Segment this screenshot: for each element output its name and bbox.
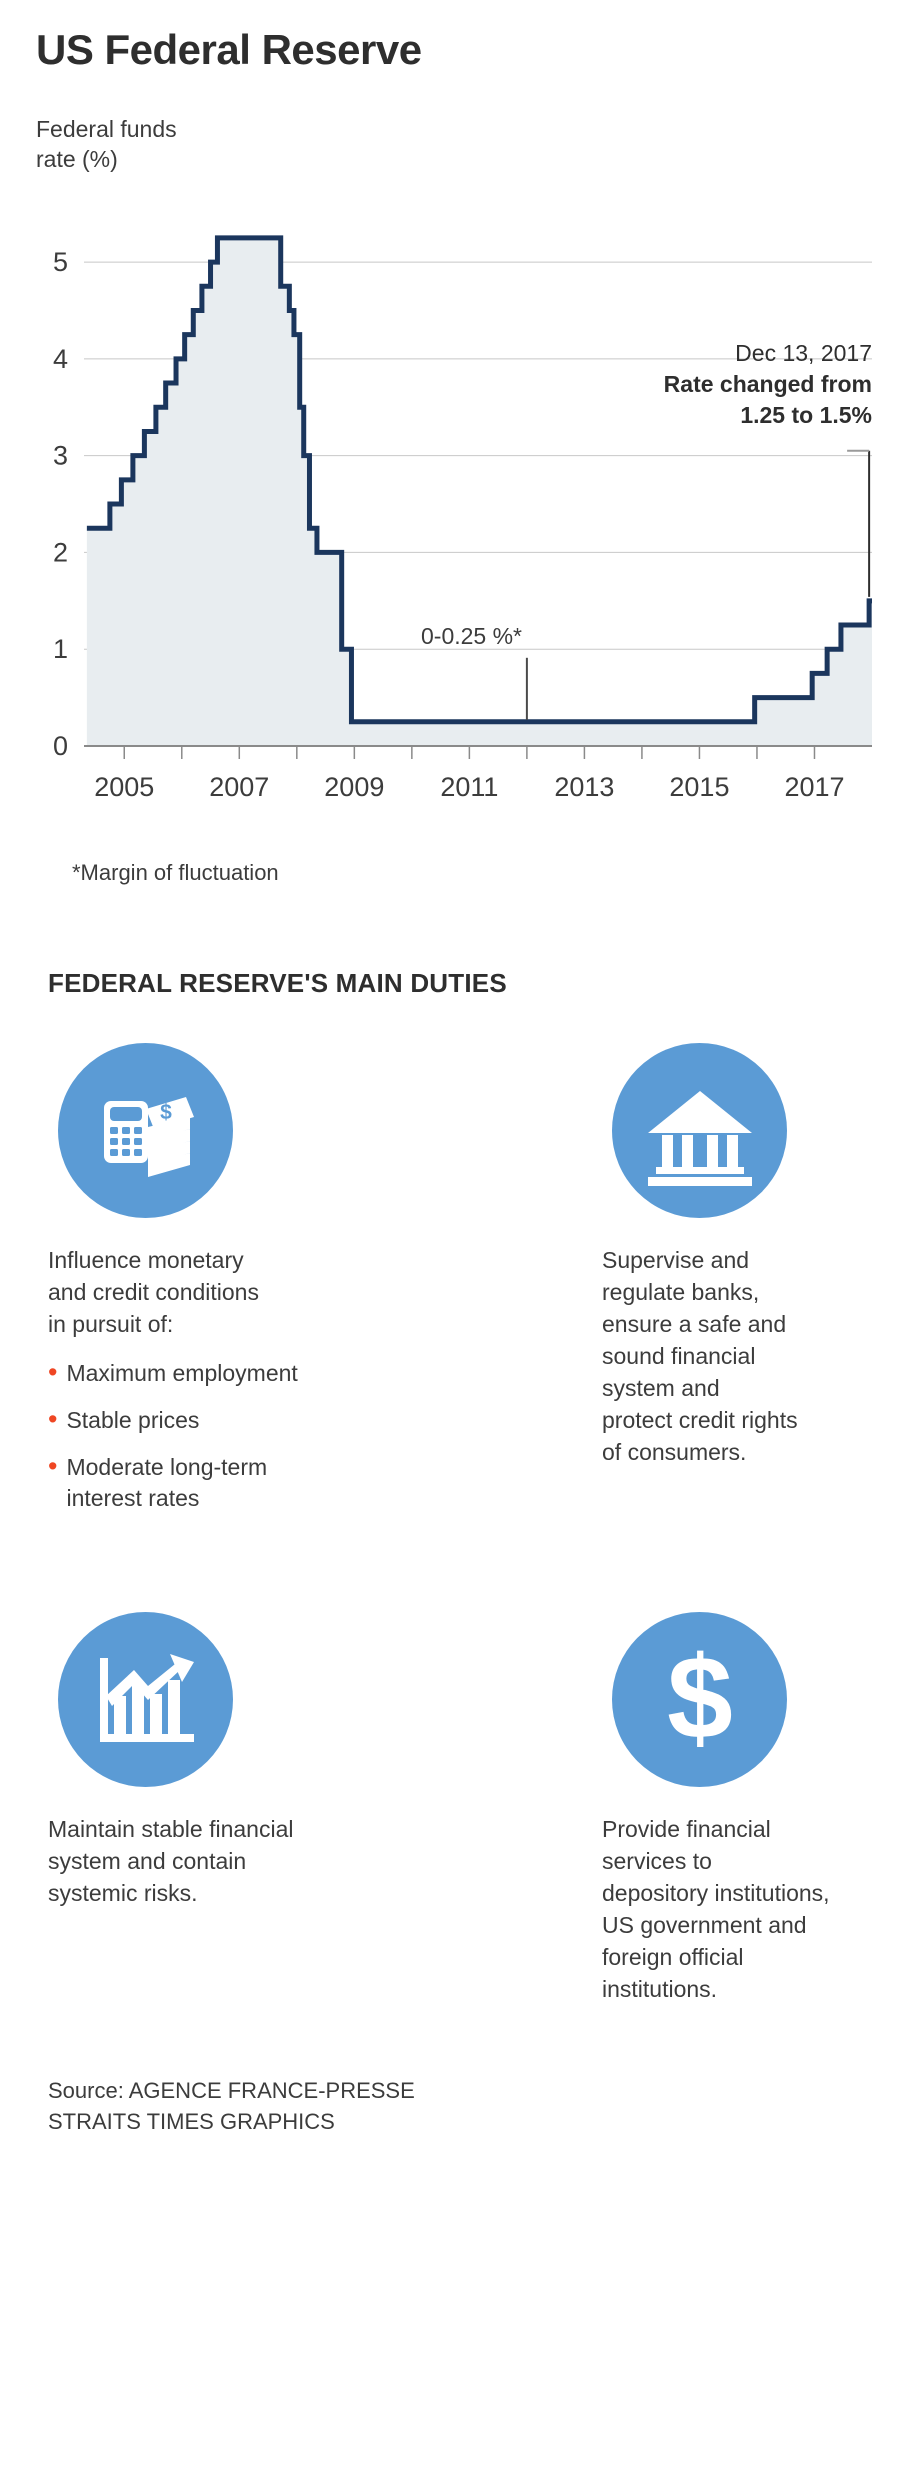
growth-chart-icon	[58, 1612, 233, 1787]
chart-area-fill	[87, 238, 872, 746]
y-tick-label: 2	[53, 537, 68, 567]
bullet-dot-icon: •	[48, 1452, 57, 1514]
duty-text: Provide financial services to depository…	[602, 1813, 858, 2005]
duty-text: Supervise and regulate banks, ensure a s…	[602, 1244, 858, 1468]
calculator-money-icon: $	[58, 1043, 233, 1218]
y-tick-label: 0	[53, 731, 68, 761]
y-tick-label: 3	[53, 441, 68, 471]
x-tick-label: 2011	[440, 772, 498, 802]
x-tick-label: 2013	[554, 772, 614, 802]
chart-plot-area: 0123452005200720092011201320152017 Dec 1…	[36, 186, 884, 846]
page-title: US Federal Reserve	[36, 0, 884, 74]
bullet-dot-icon: •	[48, 1405, 57, 1436]
duty-bullet-list: • Maximum employment • Stable prices • M…	[48, 1358, 492, 1514]
x-tick-label: 2009	[324, 772, 384, 802]
duty-text: Influence monetary and credit conditions…	[48, 1244, 492, 1340]
source-credit: Source: AGENCE FRANCE-PRESSE STRAITS TIM…	[48, 2075, 884, 2167]
y-axis-title: Federal funds rate (%)	[36, 114, 884, 174]
x-tick-label: 2015	[669, 772, 729, 802]
chart-svg: 0123452005200720092011201320152017	[36, 186, 884, 846]
duty-card-monetary-policy: $ Influence monetary and credit conditio…	[48, 1043, 518, 1530]
x-tick-label: 2017	[784, 772, 844, 802]
list-item: • Moderate long-term interest rates	[48, 1452, 492, 1514]
dollar-sign-icon: $	[612, 1612, 787, 1787]
list-item: • Maximum employment	[48, 1358, 492, 1389]
bullet-dot-icon: •	[48, 1358, 57, 1389]
bullet-label: Maximum employment	[66, 1358, 297, 1389]
y-tick-label: 5	[53, 247, 68, 277]
list-item: • Stable prices	[48, 1405, 492, 1436]
bank-building-icon	[612, 1043, 787, 1218]
rate-change-annotation: Dec 13, 2017 Rate changed from 1.25 to 1…	[612, 338, 872, 431]
duty-text: Maintain stable financial system and con…	[48, 1813, 492, 1909]
svg-text:$: $	[160, 1101, 172, 1124]
zero-lower-bound-label: 0-0.25 %*	[421, 623, 522, 650]
svg-text:$: $	[667, 1640, 733, 1760]
x-tick-label: 2007	[209, 772, 269, 802]
duty-card-bank-supervision: Supervise and regulate banks, ensure a s…	[518, 1043, 884, 1530]
duties-grid: $ Influence monetary and credit conditio…	[48, 1043, 884, 2005]
x-tick-label: 2005	[94, 772, 154, 802]
chart-footnote: *Margin of fluctuation	[72, 860, 884, 886]
annotation-line2: 1.25 to 1.5%	[612, 400, 872, 431]
fed-funds-rate-chart: Federal funds rate (%) 01234520052007200…	[36, 114, 884, 886]
duty-card-financial-services: $ Provide financial services to deposito…	[518, 1612, 884, 2005]
y-tick-label: 1	[53, 634, 68, 664]
annotation-line1: Rate changed from	[612, 369, 872, 400]
infographic-page: US Federal Reserve Federal funds rate (%…	[0, 0, 920, 2480]
duties-heading: FEDERAL RESERVE'S MAIN DUTIES	[48, 968, 884, 999]
annotation-date: Dec 13, 2017	[612, 338, 872, 369]
duty-card-financial-stability: Maintain stable financial system and con…	[48, 1612, 518, 2005]
bullet-label: Stable prices	[66, 1405, 199, 1436]
y-tick-label: 4	[53, 344, 68, 374]
bullet-label: Moderate long-term interest rates	[66, 1452, 267, 1514]
